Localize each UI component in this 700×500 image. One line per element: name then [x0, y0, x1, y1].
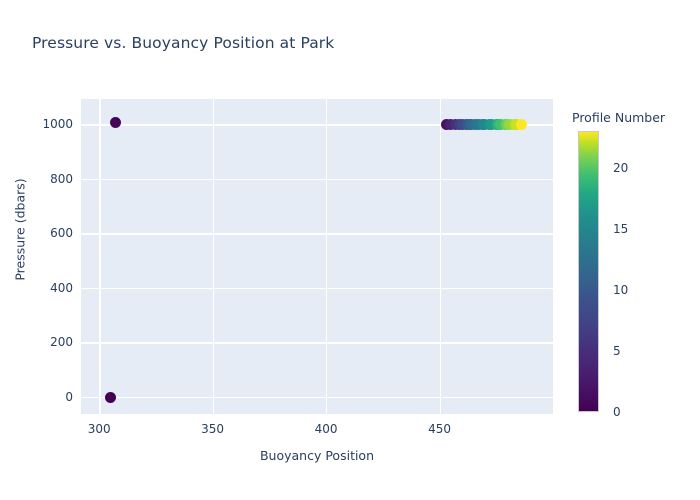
scatter-point[interactable] — [516, 119, 527, 130]
colorbar-tick-label: 20 — [613, 161, 628, 175]
x-axis-title: Buoyancy Position — [81, 448, 553, 463]
y-gridline — [81, 288, 553, 289]
y-gridline — [81, 397, 553, 398]
scatter-point[interactable] — [105, 392, 116, 403]
y-tick-label: 600 — [23, 226, 73, 240]
x-gridline — [213, 99, 214, 414]
plotly-figure: Pressure vs. Buoyancy Position at Park B… — [0, 0, 700, 500]
y-gridline — [81, 179, 553, 180]
colorbar-tick-label: 0 — [613, 405, 621, 419]
y-tick-label: 200 — [23, 335, 73, 349]
x-gridline — [440, 99, 441, 414]
y-tick-label: 400 — [23, 281, 73, 295]
plot-area[interactable] — [81, 99, 553, 414]
colorbar-tick-label: 15 — [613, 222, 628, 236]
x-tick-label: 450 — [428, 422, 451, 436]
y-tick-label: 1000 — [23, 117, 73, 131]
colorbar-gradient[interactable] — [578, 131, 599, 412]
y-gridline — [81, 342, 553, 343]
page-title: Pressure vs. Buoyancy Position at Park — [32, 34, 334, 52]
colorbar-tick-label: 5 — [613, 344, 621, 358]
y-tick-label: 800 — [23, 172, 73, 186]
y-gridline — [81, 233, 553, 234]
x-gridline — [99, 99, 100, 414]
y-tick-label: 0 — [23, 390, 73, 404]
x-tick-label: 300 — [88, 422, 111, 436]
x-tick-label: 350 — [201, 422, 224, 436]
scatter-point[interactable] — [110, 117, 121, 128]
x-tick-label: 400 — [315, 422, 338, 436]
colorbar-title: Profile Number — [572, 110, 665, 125]
x-gridline — [326, 99, 327, 414]
colorbar-tick-label: 10 — [613, 283, 628, 297]
